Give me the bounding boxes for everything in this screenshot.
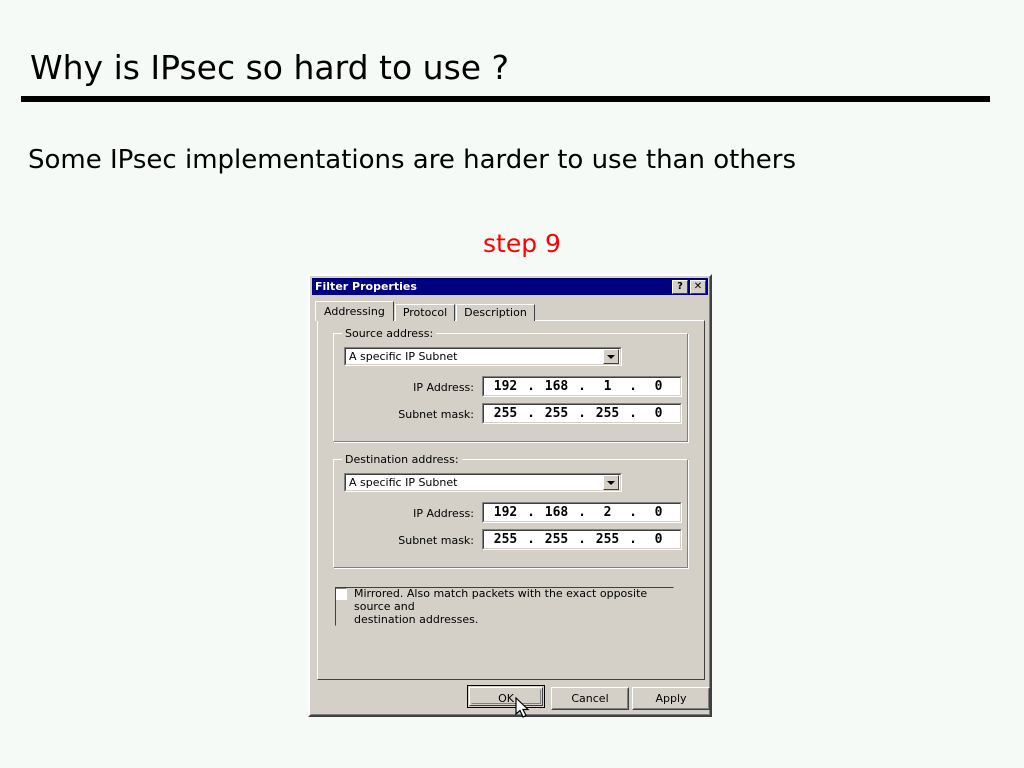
- source-ip-address-field[interactable]: 192 . 168 . 1 . 0: [482, 376, 682, 397]
- ok-button-bevel: OK: [469, 687, 543, 706]
- ip-dot: .: [629, 531, 637, 548]
- tab-protocol[interactable]: Protocol: [395, 304, 455, 321]
- destination-ip-frame: 192 . 168 . 2 . 0: [483, 503, 681, 522]
- source-mask-octet-4[interactable]: 0: [637, 405, 680, 422]
- page-title: Why is IPsec so hard to use ?: [30, 48, 509, 87]
- destination-mask-octet-3[interactable]: 255: [586, 531, 629, 548]
- ok-button[interactable]: OK: [467, 685, 545, 708]
- apply-button-label: Apply: [633, 688, 709, 709]
- step-label: step 9: [0, 229, 1024, 258]
- destination-address-legend: Destination address:: [342, 453, 462, 466]
- destination-address-group: Destination address: A specific IP Subne…: [333, 459, 689, 569]
- source-mask-frame: 255 . 255 . 255 . 0: [483, 404, 681, 423]
- source-mask-octet-2[interactable]: 255: [535, 405, 578, 422]
- ip-dot: .: [578, 378, 586, 395]
- source-address-legend: Source address:: [342, 327, 436, 340]
- ip-dot: .: [578, 405, 586, 422]
- chevron-down-icon[interactable]: [603, 475, 619, 490]
- mirrored-checkbox[interactable]: [335, 588, 347, 600]
- dialog-title-text: Filter Properties: [315, 278, 670, 295]
- ip-dot: .: [578, 504, 586, 521]
- cancel-button-label: Cancel: [552, 688, 628, 709]
- destination-subnet-mask-label: Subnet mask:: [374, 534, 474, 547]
- tab-addressing[interactable]: Addressing: [315, 301, 394, 321]
- mirrored-checkbox-row[interactable]: Mirrored. Also match packets with the ex…: [335, 587, 674, 626]
- source-mask-octet-1[interactable]: 255: [484, 405, 527, 422]
- filter-properties-dialog: Filter Properties ? ✕ Addressing Protoco…: [308, 274, 712, 717]
- tab-panel-addressing: Source address: A specific IP Subnet IP …: [317, 320, 705, 680]
- source-ip-address-label: IP Address:: [384, 381, 474, 394]
- cancel-button[interactable]: Cancel: [551, 687, 629, 710]
- slide: Why is IPsec so hard to use ? Some IPsec…: [0, 0, 1024, 768]
- destination-address-type-combo[interactable]: A specific IP Subnet: [344, 473, 622, 492]
- source-address-type-combo[interactable]: A specific IP Subnet: [344, 347, 622, 366]
- source-combo-frame: A specific IP Subnet: [345, 348, 621, 365]
- destination-ip-octet-1[interactable]: 192: [484, 504, 527, 521]
- help-icon[interactable]: ?: [672, 280, 688, 294]
- ip-dot: .: [527, 504, 535, 521]
- destination-mask-octet-1[interactable]: 255: [484, 531, 527, 548]
- apply-button[interactable]: Apply: [632, 687, 710, 710]
- destination-mask-octet-4[interactable]: 0: [637, 531, 680, 548]
- destination-subnet-mask-field[interactable]: 255 . 255 . 255 . 0: [482, 529, 682, 550]
- source-combo-value: A specific IP Subnet: [346, 349, 603, 364]
- tab-description[interactable]: Description: [456, 304, 535, 321]
- dialog-titlebar[interactable]: Filter Properties ? ✕: [312, 278, 708, 295]
- source-mask-octet-3[interactable]: 255: [586, 405, 629, 422]
- ip-dot: .: [527, 531, 535, 548]
- close-icon[interactable]: ✕: [690, 280, 706, 294]
- checkbox-frame: [335, 587, 674, 626]
- destination-combo-value: A specific IP Subnet: [346, 475, 603, 490]
- ip-dot: .: [527, 405, 535, 422]
- chevron-down-icon[interactable]: [603, 349, 619, 364]
- destination-mask-frame: 255 . 255 . 255 . 0: [483, 530, 681, 549]
- ok-button-label: OK: [471, 689, 541, 704]
- ip-dot: .: [578, 531, 586, 548]
- slide-subtitle: Some IPsec implementations are harder to…: [28, 145, 796, 175]
- destination-ip-octet-3[interactable]: 2: [586, 504, 629, 521]
- title-divider: [21, 96, 990, 102]
- source-subnet-mask-field[interactable]: 255 . 255 . 255 . 0: [482, 403, 682, 424]
- destination-mask-octet-2[interactable]: 255: [535, 531, 578, 548]
- source-ip-octet-1[interactable]: 192: [484, 378, 527, 395]
- ip-dot: .: [629, 405, 637, 422]
- ip-dot: .: [527, 378, 535, 395]
- destination-ip-address-label: IP Address:: [384, 507, 474, 520]
- ip-dot: .: [629, 504, 637, 521]
- ip-dot: .: [629, 378, 637, 395]
- destination-ip-address-field[interactable]: 192 . 168 . 2 . 0: [482, 502, 682, 523]
- source-subnet-mask-label: Subnet mask:: [374, 408, 474, 421]
- destination-ip-octet-2[interactable]: 168: [535, 504, 578, 521]
- destination-ip-octet-4[interactable]: 0: [637, 504, 680, 521]
- source-ip-frame: 192 . 168 . 1 . 0: [483, 377, 681, 396]
- tab-strip: Addressing Protocol Description: [317, 303, 536, 321]
- source-ip-octet-3[interactable]: 1: [586, 378, 629, 395]
- source-ip-octet-2[interactable]: 168: [535, 378, 578, 395]
- source-ip-octet-4[interactable]: 0: [637, 378, 680, 395]
- destination-combo-frame: A specific IP Subnet: [345, 474, 621, 491]
- source-address-group: Source address: A specific IP Subnet IP …: [333, 333, 689, 443]
